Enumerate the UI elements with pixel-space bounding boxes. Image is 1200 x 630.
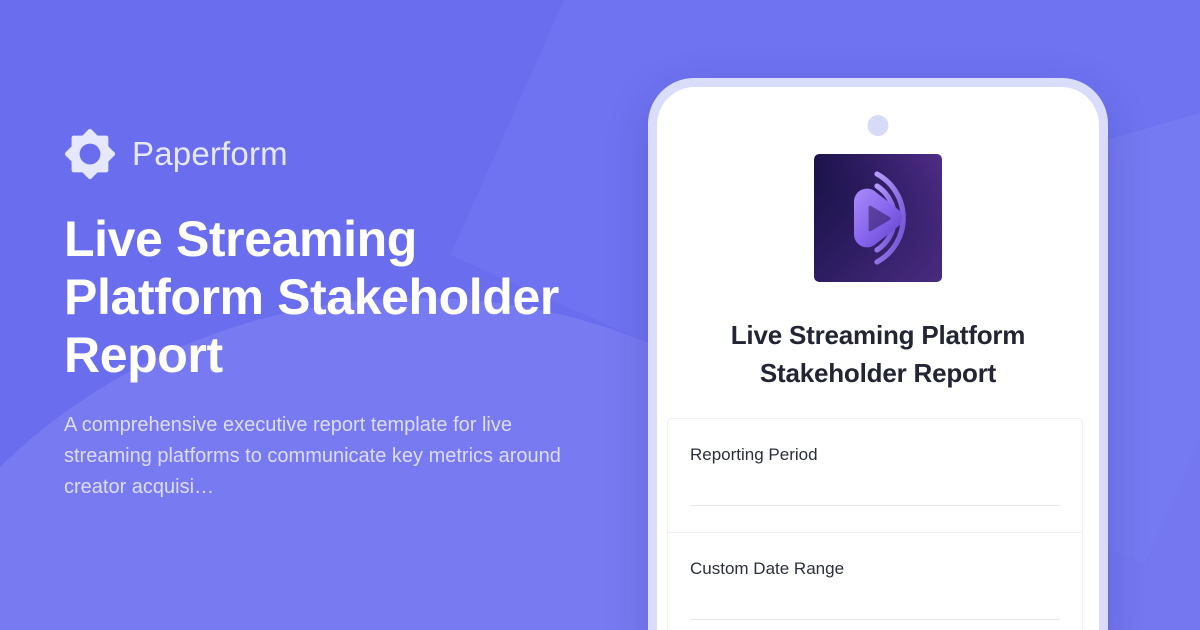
field-label: Custom Date Range <box>690 559 1060 579</box>
og-share-card: Paperform Live Streaming Platform Stakeh… <box>0 0 1200 630</box>
brand-lockup: Paperform <box>64 128 624 180</box>
page-title: Live Streaming Platform Stakeholder Repo… <box>64 210 604 384</box>
form-field-reporting-period[interactable]: Reporting Period <box>667 418 1083 532</box>
form-fields: Reporting Period Custom Date Range <box>667 418 1083 630</box>
field-input-underline[interactable] <box>690 505 1060 506</box>
hero-content: Paperform Live Streaming Platform Stakeh… <box>64 0 624 630</box>
front-camera-dot-icon <box>868 115 889 136</box>
live-streaming-play-broadcast-icon <box>814 154 942 282</box>
paperform-star-logo-icon <box>64 128 116 180</box>
brand-name: Paperform <box>132 135 288 173</box>
phone-screen: Live Streaming Platform Stakeholder Repo… <box>657 87 1099 630</box>
field-input-underline[interactable] <box>690 619 1060 620</box>
field-label: Reporting Period <box>690 445 1060 465</box>
phone-mockup: Live Streaming Platform Stakeholder Repo… <box>648 78 1108 630</box>
form-title: Live Streaming Platform Stakeholder Repo… <box>691 316 1065 392</box>
form-field-custom-date-range[interactable]: Custom Date Range <box>667 532 1083 630</box>
form-preview: Live Streaming Platform Stakeholder Repo… <box>657 87 1099 630</box>
page-description: A comprehensive executive report templat… <box>64 410 584 503</box>
